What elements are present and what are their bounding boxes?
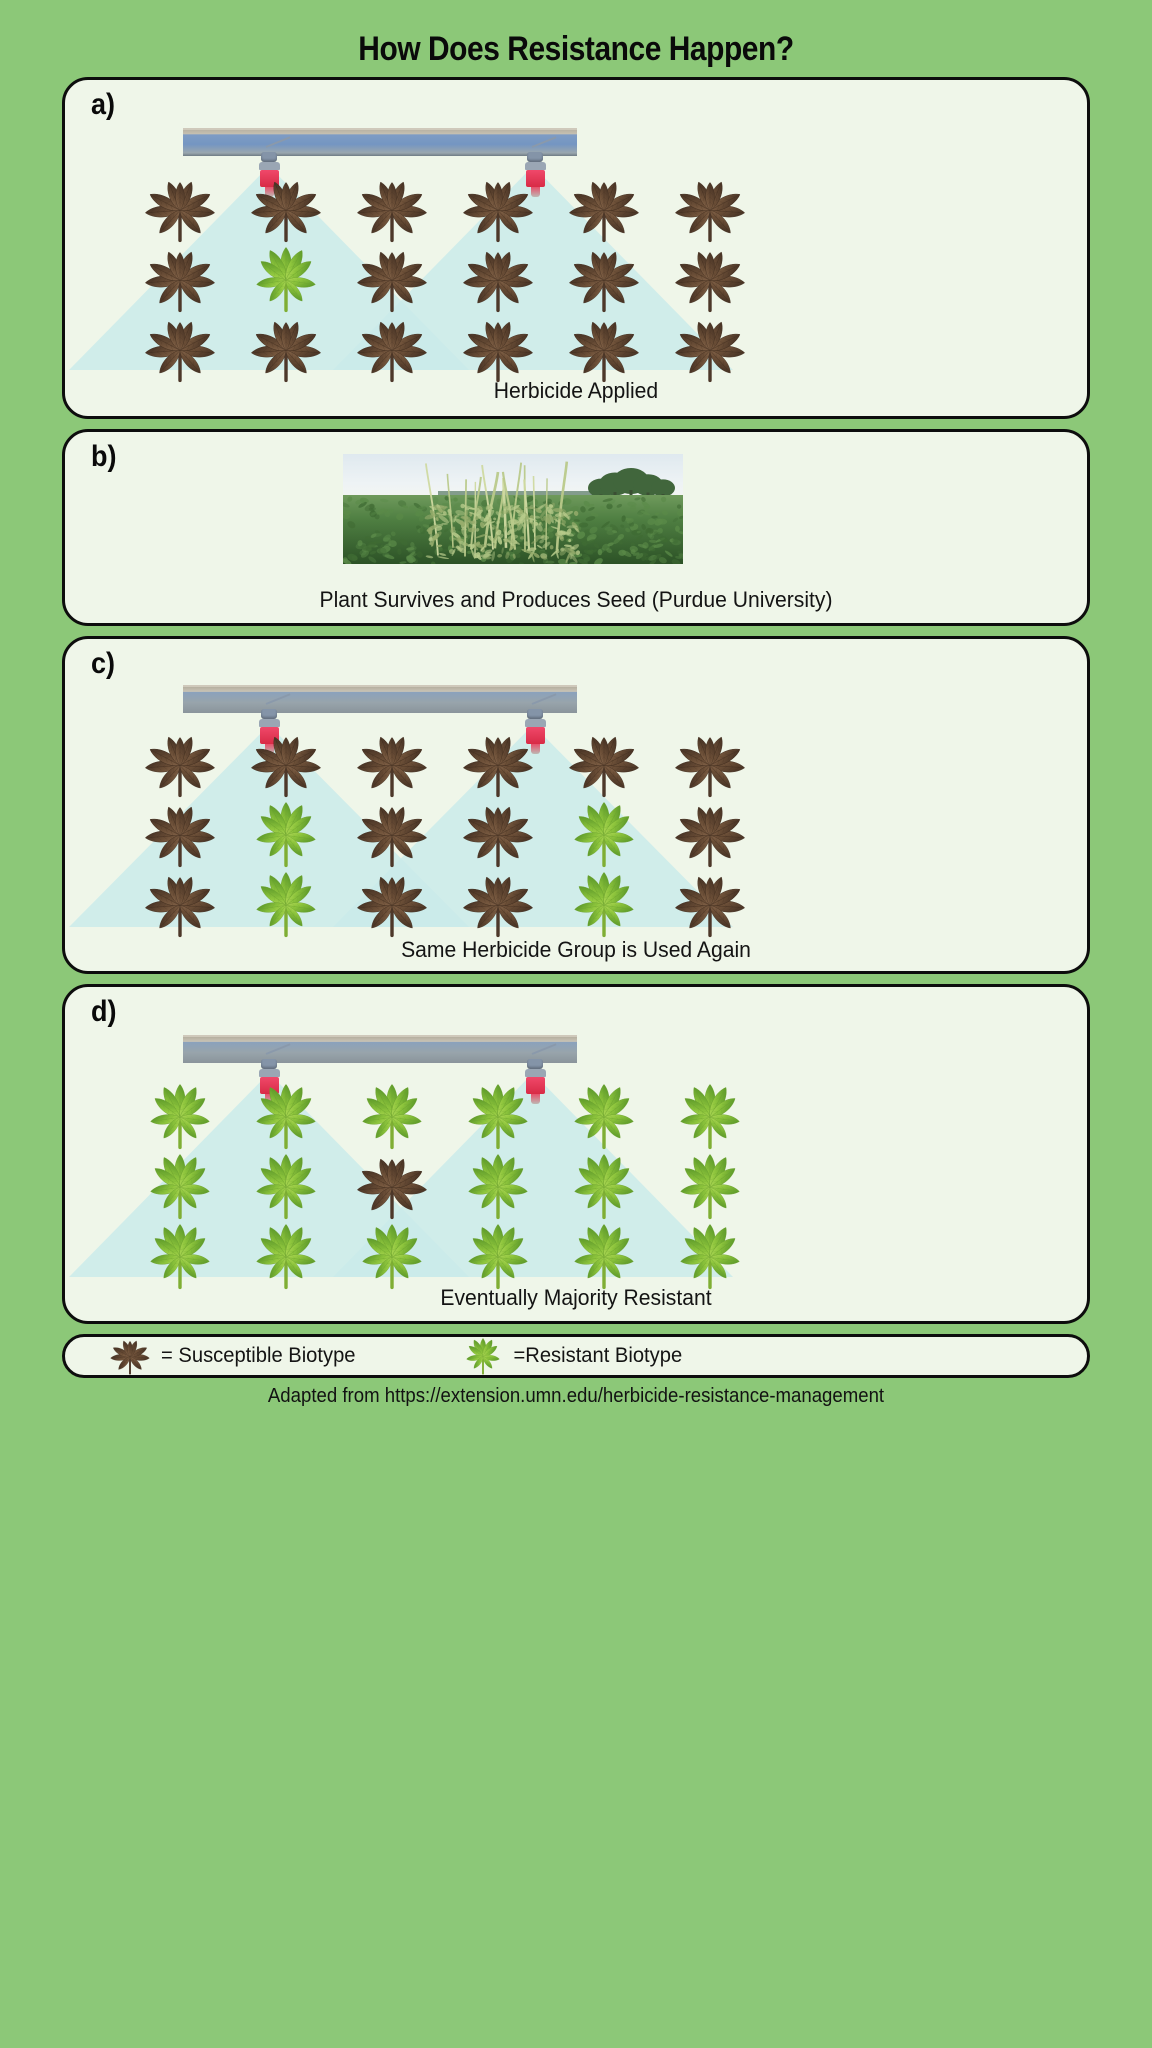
- susceptible-plant-icon: [669, 863, 751, 945]
- legend-label-susceptible: = Susceptible Biotype: [161, 1344, 355, 1368]
- plant-cell: [657, 863, 763, 945]
- susceptible-plant-icon: [107, 1333, 157, 1379]
- panel-c: c) Same Herbicide Group is Used Again: [62, 636, 1090, 974]
- boom-bar: [183, 685, 577, 713]
- nozzle-clamp: [527, 709, 543, 719]
- legend-bar: = Susceptible Biotype =Resistant Biotype: [62, 1334, 1090, 1378]
- plant-cell: [339, 863, 445, 945]
- panel-a: a) Herbicide Applied: [62, 77, 1090, 419]
- panel-b: b) Plant Survives and Produces Seed (Pur…: [62, 429, 1090, 626]
- plant-cell: [127, 863, 233, 945]
- panel-c-stage: [65, 639, 1087, 971]
- plant-row: [127, 863, 1087, 945]
- nozzle-clamp: [527, 152, 543, 162]
- susceptible-plant-icon: [351, 863, 433, 945]
- sprayer-boom-d: [183, 1035, 577, 1065]
- resistant-plant-icon: [245, 863, 327, 945]
- boom-bar: [183, 1035, 577, 1063]
- boom-bar: [183, 128, 577, 156]
- susceptible-plant-icon: [107, 1333, 153, 1379]
- page-title: How Does Resistance Happen?: [69, 30, 1083, 69]
- nozzle-clamp: [261, 709, 277, 719]
- nozzle-clamp: [527, 1059, 543, 1069]
- nozzle-clamp: [261, 1059, 277, 1069]
- plant-cell: [551, 863, 657, 945]
- resistant-plant-icon: [460, 1333, 506, 1379]
- panel-a-caption: Herbicide Applied: [85, 378, 1066, 404]
- sprayer-boom-a: [183, 128, 577, 158]
- plant-cell: [233, 863, 339, 945]
- panel-c-caption: Same Herbicide Group is Used Again: [85, 937, 1066, 963]
- panel-d-label: d): [91, 995, 116, 1029]
- legend-item-resistant: =Resistant Biotype: [460, 1333, 686, 1379]
- panel-d-stage: [65, 987, 1087, 1321]
- panel-d-caption: Eventually Majority Resistant: [85, 1285, 1066, 1311]
- panel-d: d) Eventually Majority Resistant: [62, 984, 1090, 1324]
- susceptible-plant-icon: [139, 863, 221, 945]
- infographic-page: How Does Resistance Happen? a) Herbicide…: [0, 0, 1152, 2048]
- legend-item-susceptible: = Susceptible Biotype: [107, 1333, 360, 1379]
- panel-c-label: c): [91, 647, 115, 681]
- panel-b-caption: Plant Survives and Produces Seed (Purdue…: [85, 587, 1066, 613]
- susceptible-plant-icon: [457, 863, 539, 945]
- resistant-plant-icon: [460, 1333, 510, 1379]
- resistant-plant-icon: [563, 863, 645, 945]
- source-attribution: Adapted from https://extension.umn.edu/h…: [40, 1385, 1111, 1408]
- legend-label-resistant: =Resistant Biotype: [513, 1344, 682, 1368]
- field-photo-image: [343, 454, 683, 564]
- sprayer-boom-c: [183, 685, 577, 715]
- panel-a-stage: [65, 80, 1087, 416]
- plant-cell: [445, 863, 551, 945]
- panel-a-label: a): [91, 88, 115, 122]
- panel-b-label: b): [91, 440, 116, 474]
- nozzle-clamp: [261, 152, 277, 162]
- field-photo: [343, 454, 683, 564]
